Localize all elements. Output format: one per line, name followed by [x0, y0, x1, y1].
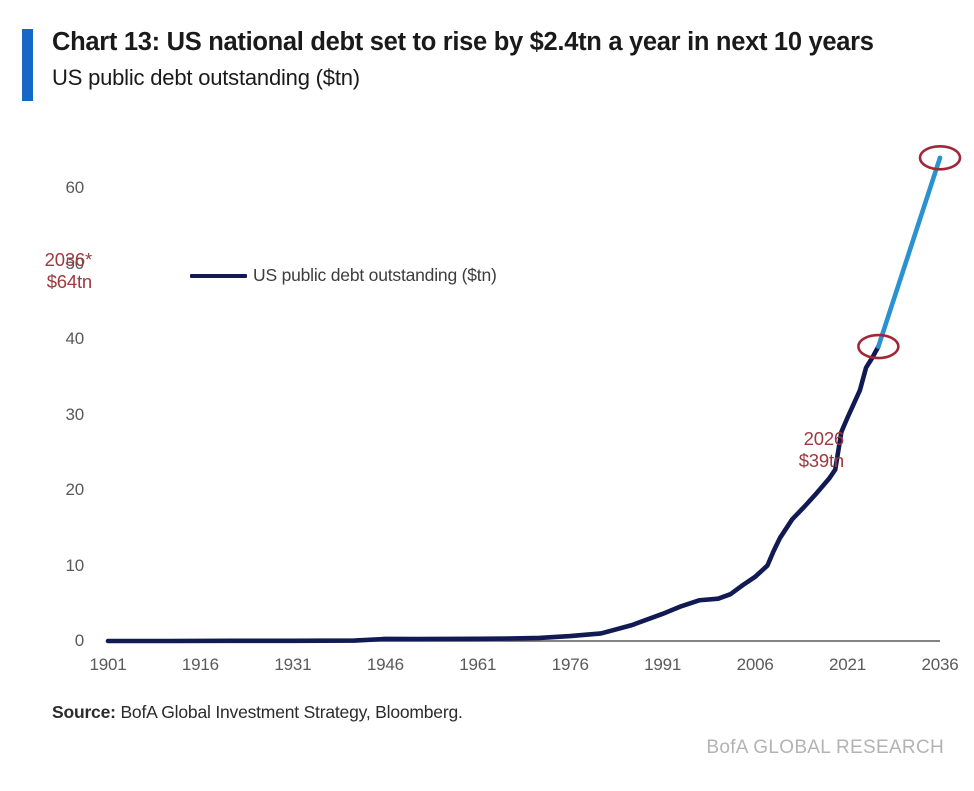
annotation-2026: 2026 $39tn [799, 428, 844, 472]
chart-canvas [0, 110, 974, 690]
series-line-actual [108, 347, 878, 641]
x-tick-label: 1901 [71, 655, 145, 675]
annotation-2036-value: $64tn [45, 271, 92, 293]
x-tick-label: 2006 [718, 655, 792, 675]
legend-swatch-us-public-debt [190, 274, 247, 278]
x-tick-label: 1991 [626, 655, 700, 675]
x-tick-label: 2021 [811, 655, 885, 675]
x-tick-label: 1916 [163, 655, 237, 675]
brand-watermark: BofA GLOBAL RESEARCH [706, 737, 944, 759]
x-tick-label: 1946 [348, 655, 422, 675]
y-tick-label: 10 [38, 556, 84, 576]
page-title: Chart 13: US national debt set to rise b… [52, 28, 874, 57]
chart-header: Chart 13: US national debt set to rise b… [0, 0, 974, 110]
y-tick-label: 60 [38, 178, 84, 198]
source-label: Source: [52, 702, 116, 722]
x-tick-label: 1976 [533, 655, 607, 675]
y-tick-label: 40 [38, 329, 84, 349]
x-tick-label: 2036 [903, 655, 974, 675]
legend-label-us-public-debt: US public debt outstanding ($tn) [253, 265, 497, 286]
x-tick-label: 1961 [441, 655, 515, 675]
series-line-forecast [878, 158, 940, 347]
chart-legend: US public debt outstanding ($tn) [190, 265, 497, 286]
annotation-2026-year: 2026 [799, 428, 844, 450]
source-text: BofA Global Investment Strategy, Bloombe… [120, 702, 462, 722]
chart-subtitle: US public debt outstanding ($tn) [52, 65, 360, 91]
y-tick-label: 0 [38, 631, 84, 651]
x-tick-label: 1931 [256, 655, 330, 675]
chart-plot-area: US public debt outstanding ($tn) 0102030… [0, 110, 974, 690]
y-tick-label: 30 [38, 405, 84, 425]
accent-bar [22, 29, 33, 101]
annotation-2036: 2036* $64tn [45, 249, 92, 293]
annotation-2026-value: $39tn [799, 450, 844, 472]
y-tick-label: 20 [38, 480, 84, 500]
annotation-2036-year: 2036* [45, 249, 92, 271]
source-note: Source: BofA Global Investment Strategy,… [52, 702, 463, 723]
